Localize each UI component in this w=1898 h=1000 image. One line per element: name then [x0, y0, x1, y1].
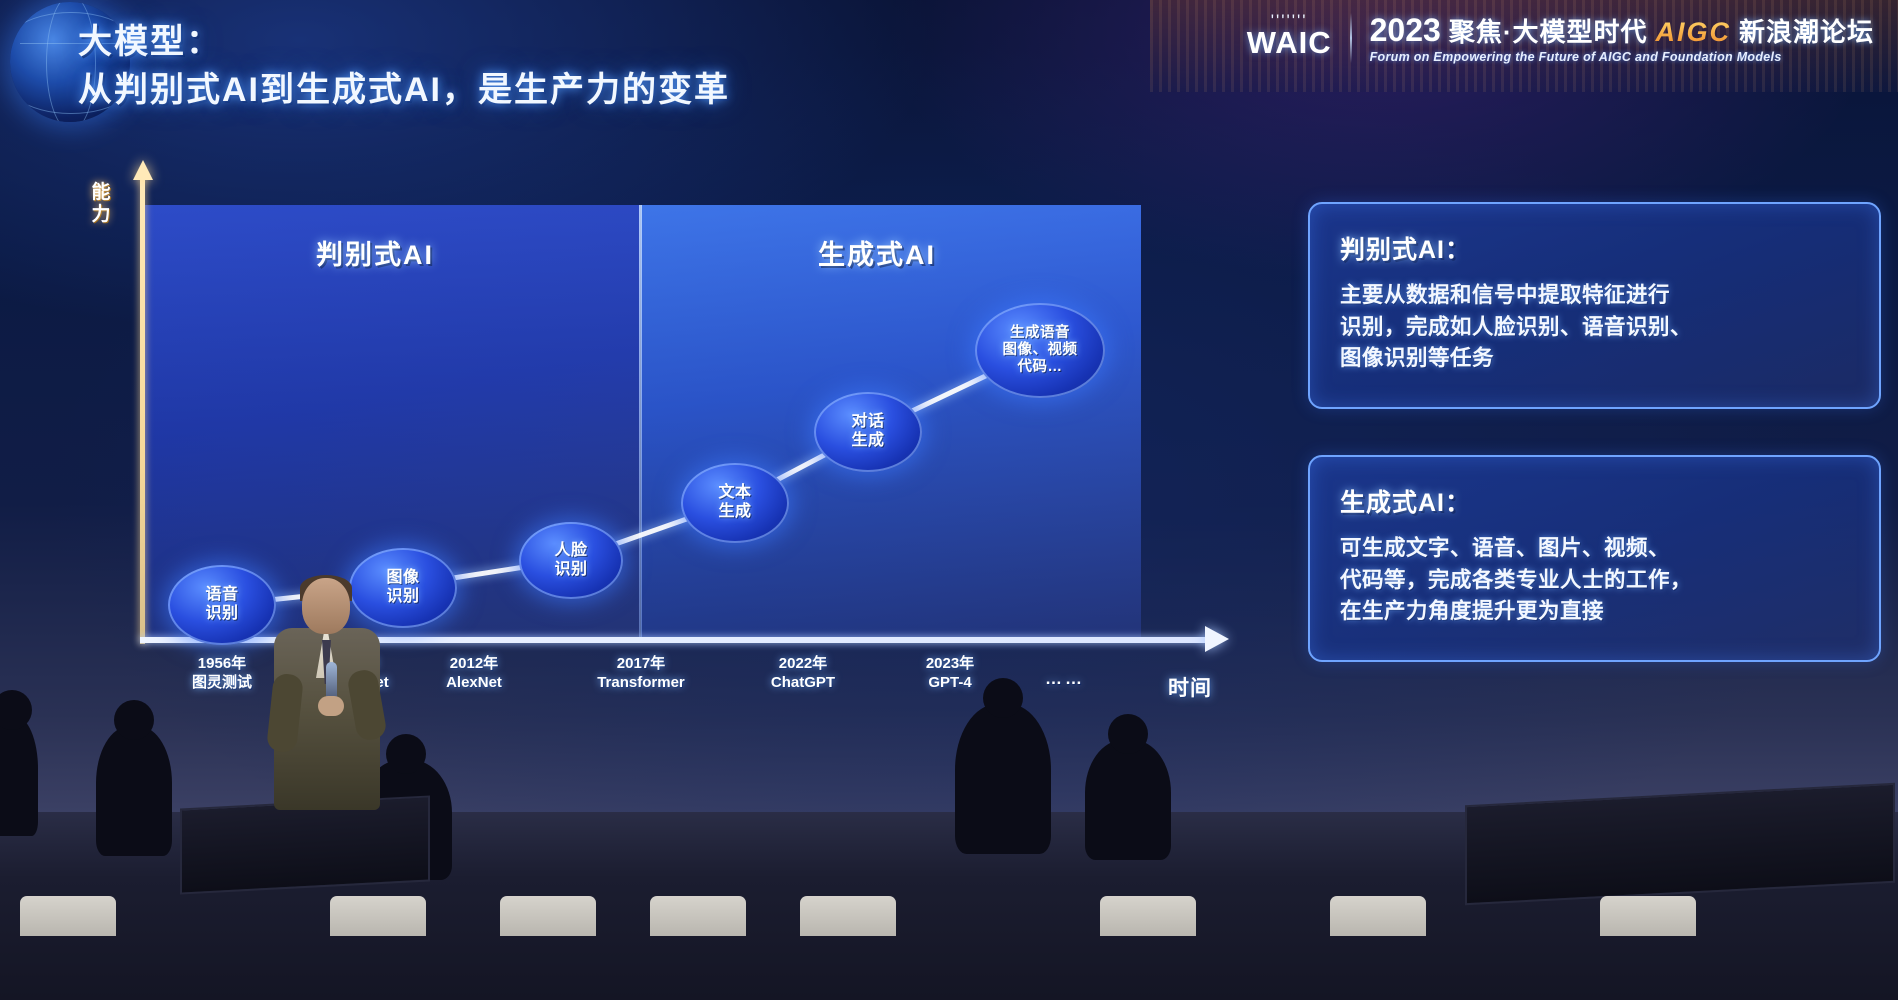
forum-title-cn-2: 新浪潮论坛	[1739, 18, 1874, 48]
monitor-screen	[180, 795, 430, 894]
node-line: 识别	[386, 588, 419, 607]
x-axis-arrow-icon	[1205, 626, 1229, 652]
node-line: 人脸	[554, 542, 587, 561]
seat-back	[800, 896, 896, 936]
brand-divider	[1350, 13, 1352, 63]
timeline-chart: 判别式AI 生成式AI 能力 时间 语音 识别 图像	[0, 0, 1270, 720]
card-body-line: 在生产力角度提升更为直接	[1340, 596, 1849, 628]
forum-title-block: 2023 聚焦·大模型时代 AIGC 新浪潮论坛 Forum on Empowe…	[1370, 12, 1874, 64]
node-line: 语音	[205, 586, 238, 605]
card-body-line: 图像识别等任务	[1340, 343, 1849, 375]
node-line: 生成语音	[1003, 325, 1078, 342]
node-line: 文本	[718, 484, 751, 503]
seat-back	[330, 896, 426, 936]
seat-back	[1600, 896, 1696, 936]
seat-back	[1100, 896, 1196, 936]
node-line: 生成	[718, 503, 751, 522]
card-body-line: 主要从数据和信号中提取特征进行	[1340, 280, 1849, 312]
node-line: 图像	[386, 569, 419, 588]
node-line: 识别	[205, 605, 238, 624]
node-text-generation[interactable]: 文本 生成	[681, 463, 789, 543]
panel-divider	[639, 205, 642, 638]
card-title: 生成式AI：	[1340, 483, 1849, 519]
x-tick-1956: 1956年 图灵测试	[192, 655, 252, 693]
info-card-generative-ai: 生成式AI： 可生成文字、语音、图片、视频、 代码等，完成各类专业人士的工作， …	[1308, 455, 1881, 662]
panel-label-generative: 生成式AI	[818, 233, 936, 272]
node-line: 识别	[554, 561, 587, 580]
event-branding: ''''''' WAIC 2023 聚焦·大模型时代 AIGC 新浪潮论坛 Fo…	[1247, 12, 1874, 64]
stage-foreground	[0, 812, 1898, 1000]
x-tick-gpt4: 2023年 GPT-4	[926, 655, 974, 693]
monitor-screen	[1465, 783, 1895, 906]
audience-person	[96, 726, 172, 856]
card-body-line: 识别，完成如人脸识别、语音识别、	[1340, 312, 1849, 344]
seat-back	[20, 896, 116, 936]
forum-subtitle: Forum on Empowering the Future of AIGC a…	[1370, 50, 1874, 64]
node-line: 对话	[851, 413, 884, 432]
forum-title-cn-1: 聚焦·大模型时代	[1449, 18, 1648, 48]
node-multimodal-generation[interactable]: 生成语音 图像、视频 代码…	[975, 303, 1105, 398]
x-tick-transformer: 2017年 Transformer	[597, 655, 685, 693]
audience-person	[955, 704, 1051, 854]
seat-back	[1330, 896, 1426, 936]
node-line: 生成	[851, 432, 884, 451]
speaker-hand	[318, 696, 344, 716]
info-card-discriminative-ai: 判别式AI： 主要从数据和信号中提取特征进行 识别，完成如人脸识别、语音识别、 …	[1308, 202, 1881, 409]
forum-year: 2023	[1370, 12, 1441, 49]
seat-back	[650, 896, 746, 936]
audience-person	[0, 716, 38, 836]
x-axis-label: 时间	[1168, 672, 1212, 702]
node-dialogue-generation[interactable]: 对话 生成	[814, 392, 922, 472]
x-tick-alexnet: 2012年 AlexNet	[446, 655, 502, 693]
node-line: 代码…	[1003, 359, 1078, 376]
y-axis	[140, 176, 145, 644]
node-speech-recognition[interactable]: 语音 识别	[168, 565, 276, 645]
forum-aigc-label: AIGC	[1655, 17, 1731, 48]
node-line: 图像、视频	[1003, 342, 1078, 359]
x-tick-chatgpt: 2022年 ChatGPT	[771, 655, 835, 693]
speaker-presenter	[268, 578, 386, 808]
speaker-head	[302, 578, 350, 634]
node-face-recognition[interactable]: 人脸 识别	[519, 522, 623, 599]
x-tick-ellipsis: ……	[1045, 668, 1085, 689]
audience-person	[1085, 740, 1171, 860]
y-axis-arrow-icon	[133, 160, 153, 180]
card-body-line: 可生成文字、语音、图片、视频、	[1340, 533, 1849, 565]
panel-label-discriminative: 判别式AI	[316, 233, 434, 272]
presentation-screenshot: 大模型： 从判别式AI到生成式AI，是生产力的变革 ''''''' WAIC 2…	[0, 0, 1898, 1000]
seat-back	[500, 896, 596, 936]
card-title: 判别式AI：	[1340, 230, 1849, 266]
y-axis-label: 能力	[86, 182, 116, 226]
card-body-line: 代码等，完成各类专业人士的工作，	[1340, 565, 1849, 597]
